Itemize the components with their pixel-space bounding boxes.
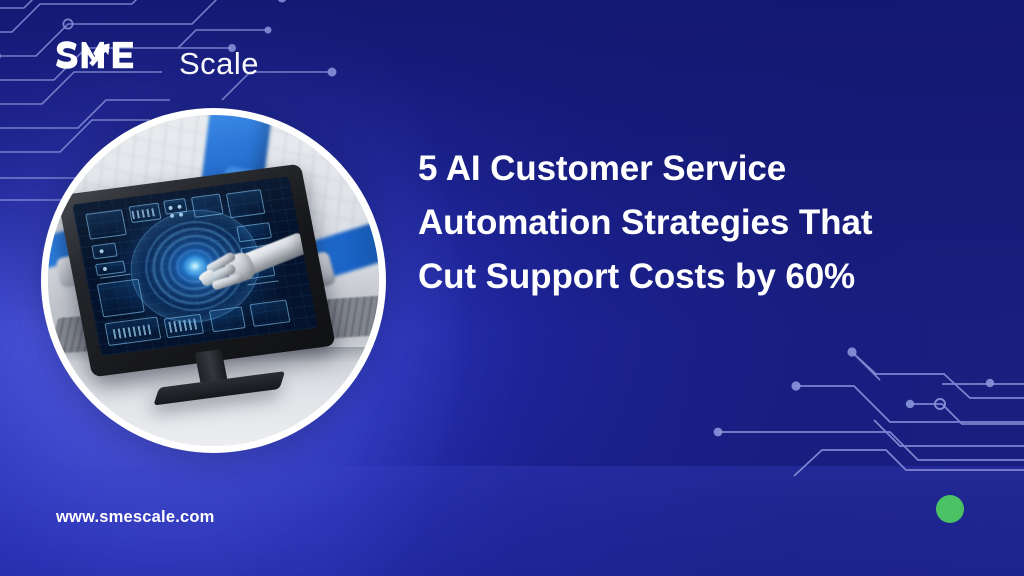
- hero-image: [48, 115, 379, 446]
- brand-logo-word: Scale: [179, 48, 259, 79]
- brand-logo[interactable]: Scale: [56, 36, 259, 79]
- website-url[interactable]: www.smescale.com: [56, 508, 215, 527]
- hud-panel: [226, 189, 265, 218]
- sme-logo-icon: [56, 36, 168, 74]
- green-accent-dot-icon: [936, 495, 964, 523]
- headline-line-2: Automation Strategies That: [418, 196, 974, 250]
- hud-panel: [250, 299, 291, 326]
- headline-line-3: Cut Support Costs by 60%: [418, 250, 974, 304]
- hero-image-circle: [41, 108, 386, 453]
- hud-panel: [86, 209, 128, 240]
- blog-banner: Scale: [0, 0, 1024, 576]
- page-title: 5 AI Customer Service Automation Strateg…: [418, 142, 974, 304]
- monitor-screen: [73, 176, 319, 356]
- headline-line-1: 5 AI Customer Service: [418, 142, 974, 196]
- touchscreen-monitor: [58, 164, 337, 378]
